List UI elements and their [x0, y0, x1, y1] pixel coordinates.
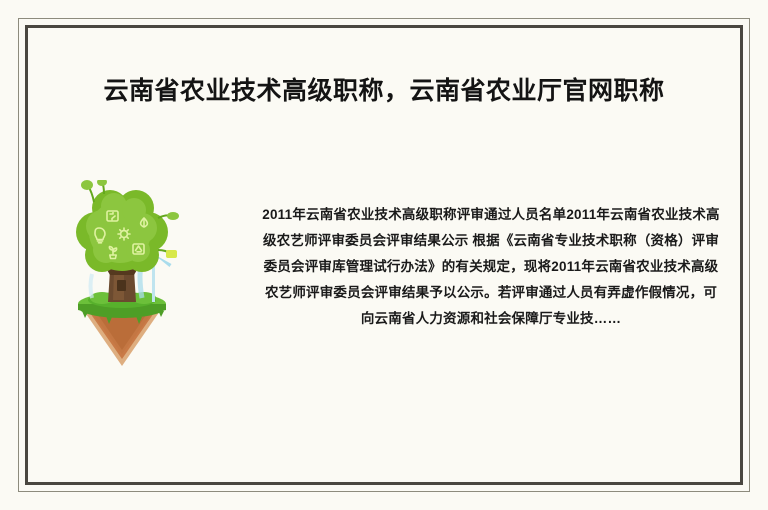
tree-trunk — [106, 268, 138, 302]
page-title: 云南省农业技术高级职称，云南省农业厅官网职称 — [0, 76, 768, 106]
document-body-text: 2011年云南省农业技术高级职称评审通过人员名单2011年云南省农业技术高级农艺… — [262, 202, 720, 332]
page-root: 云南省农业技术高级职称，云南省农业厅官网职称 — [0, 0, 768, 510]
eco-tree-floating-island-illustration — [62, 180, 182, 370]
content-row: 2011年云南省农业技术高级职称评审通过人员名单2011年云南省农业技术高级农艺… — [40, 175, 730, 425]
